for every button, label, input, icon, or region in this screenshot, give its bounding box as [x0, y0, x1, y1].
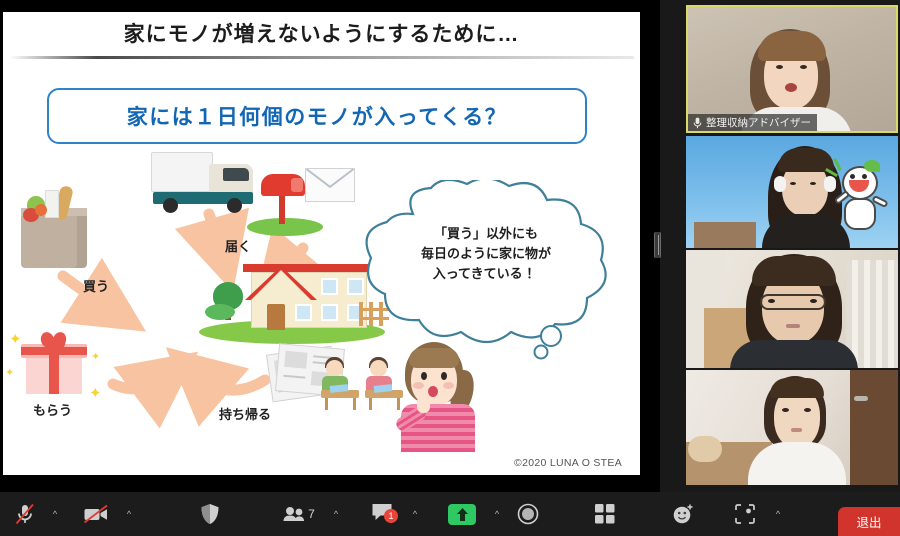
slide-subtitle-box: 家には１日何個のモノが入ってくる？: [47, 88, 587, 144]
mic-muted-icon: [693, 117, 702, 129]
slide-subtitle: 家には１日何個のモノが入ってくる？: [127, 101, 507, 131]
record-button[interactable]: [508, 492, 548, 536]
label-buy: 買う: [83, 276, 109, 295]
participants-icon: [283, 506, 305, 522]
arrow-up-icon: [456, 507, 469, 522]
meeting-toolbar: ^ ^ 7 ^: [0, 492, 900, 536]
focus-mode-button[interactable]: [725, 492, 765, 536]
label-bring-home: 持ち帰る: [219, 404, 271, 423]
video-tile-3[interactable]: [686, 250, 898, 368]
participants-caret[interactable]: ^: [325, 492, 347, 536]
participant-video: [686, 250, 898, 368]
share-screen-badge: [448, 504, 476, 525]
participants-button[interactable]: 7: [275, 492, 323, 536]
audio-options-caret[interactable]: ^: [44, 492, 66, 536]
participant-video: [686, 370, 898, 485]
participant-name: 整理収納アドバイザー: [706, 115, 811, 130]
chat-unread-badge: 1: [384, 509, 398, 523]
grid-squares-icon: [595, 504, 615, 524]
participant-video: [686, 136, 898, 248]
record-icon: [517, 503, 539, 525]
headset-earpiece: [774, 176, 786, 192]
envelope-icon: [305, 168, 355, 202]
label-receive: もらう: [33, 400, 72, 419]
chat-button[interactable]: 1: [362, 492, 402, 536]
copyright-notice: ©2020 LUNA O STEA: [514, 457, 622, 469]
smiley-plus-icon: [672, 503, 694, 525]
grocery-bag-icon: [21, 190, 87, 268]
panel-drag-handle[interactable]: [654, 232, 661, 258]
title-divider: [9, 56, 634, 59]
shared-screen-region[interactable]: 家にモノが増えないようにするために… 家には１日何個のモノが入ってくる？: [0, 0, 660, 492]
gift-box-icon: [21, 334, 87, 394]
video-options-caret[interactable]: ^: [118, 492, 140, 536]
microphone-muted-icon: [15, 503, 35, 525]
share-caret[interactable]: ^: [486, 492, 508, 536]
participants-count: 7: [308, 507, 315, 521]
focus-caret[interactable]: ^: [767, 492, 789, 536]
breakout-rooms-button[interactable]: [585, 492, 625, 536]
mute-audio-button[interactable]: [8, 492, 42, 536]
thought-bubble-text: 「買う」以外にも 毎日のように家に物が 入ってきている ！: [355, 224, 617, 284]
video-tile-4[interactable]: [686, 370, 898, 485]
participant-name-tag: 整理収納アドバイザー: [688, 114, 817, 131]
headset-earpiece: [824, 176, 836, 192]
focus-frame-icon: [735, 504, 755, 524]
stop-video-button[interactable]: [76, 492, 116, 536]
thought-bubble: 「買う」以外にも 毎日のように家に物が 入ってきている ！: [355, 180, 617, 360]
security-button[interactable]: [190, 492, 230, 536]
participant-video: [688, 7, 896, 131]
meeting-stage: 家にモノが増えないようにするために… 家には１日何個のモノが入ってくる？: [0, 0, 900, 536]
camera-stopped-icon: [83, 504, 109, 524]
reactions-button[interactable]: [662, 492, 704, 536]
video-tile-2[interactable]: [686, 136, 898, 248]
slide-title: 家にモノが増えないようにするために…: [3, 18, 640, 48]
presentation-slide: 家にモノが増えないようにするために… 家には１日何個のモノが入ってくる？: [3, 12, 640, 475]
share-screen-button[interactable]: [440, 492, 484, 536]
video-tile-active-speaker[interactable]: 整理収納アドバイザー: [686, 5, 898, 133]
chat-caret[interactable]: ^: [404, 492, 426, 536]
shield-icon: [200, 503, 220, 525]
mailbox-icon: [261, 174, 307, 234]
delivery-truck-icon: [151, 152, 255, 214]
leave-meeting-button[interactable]: 退出: [838, 507, 900, 536]
participant-filmstrip: 整理収納アドバイザー: [682, 0, 900, 492]
